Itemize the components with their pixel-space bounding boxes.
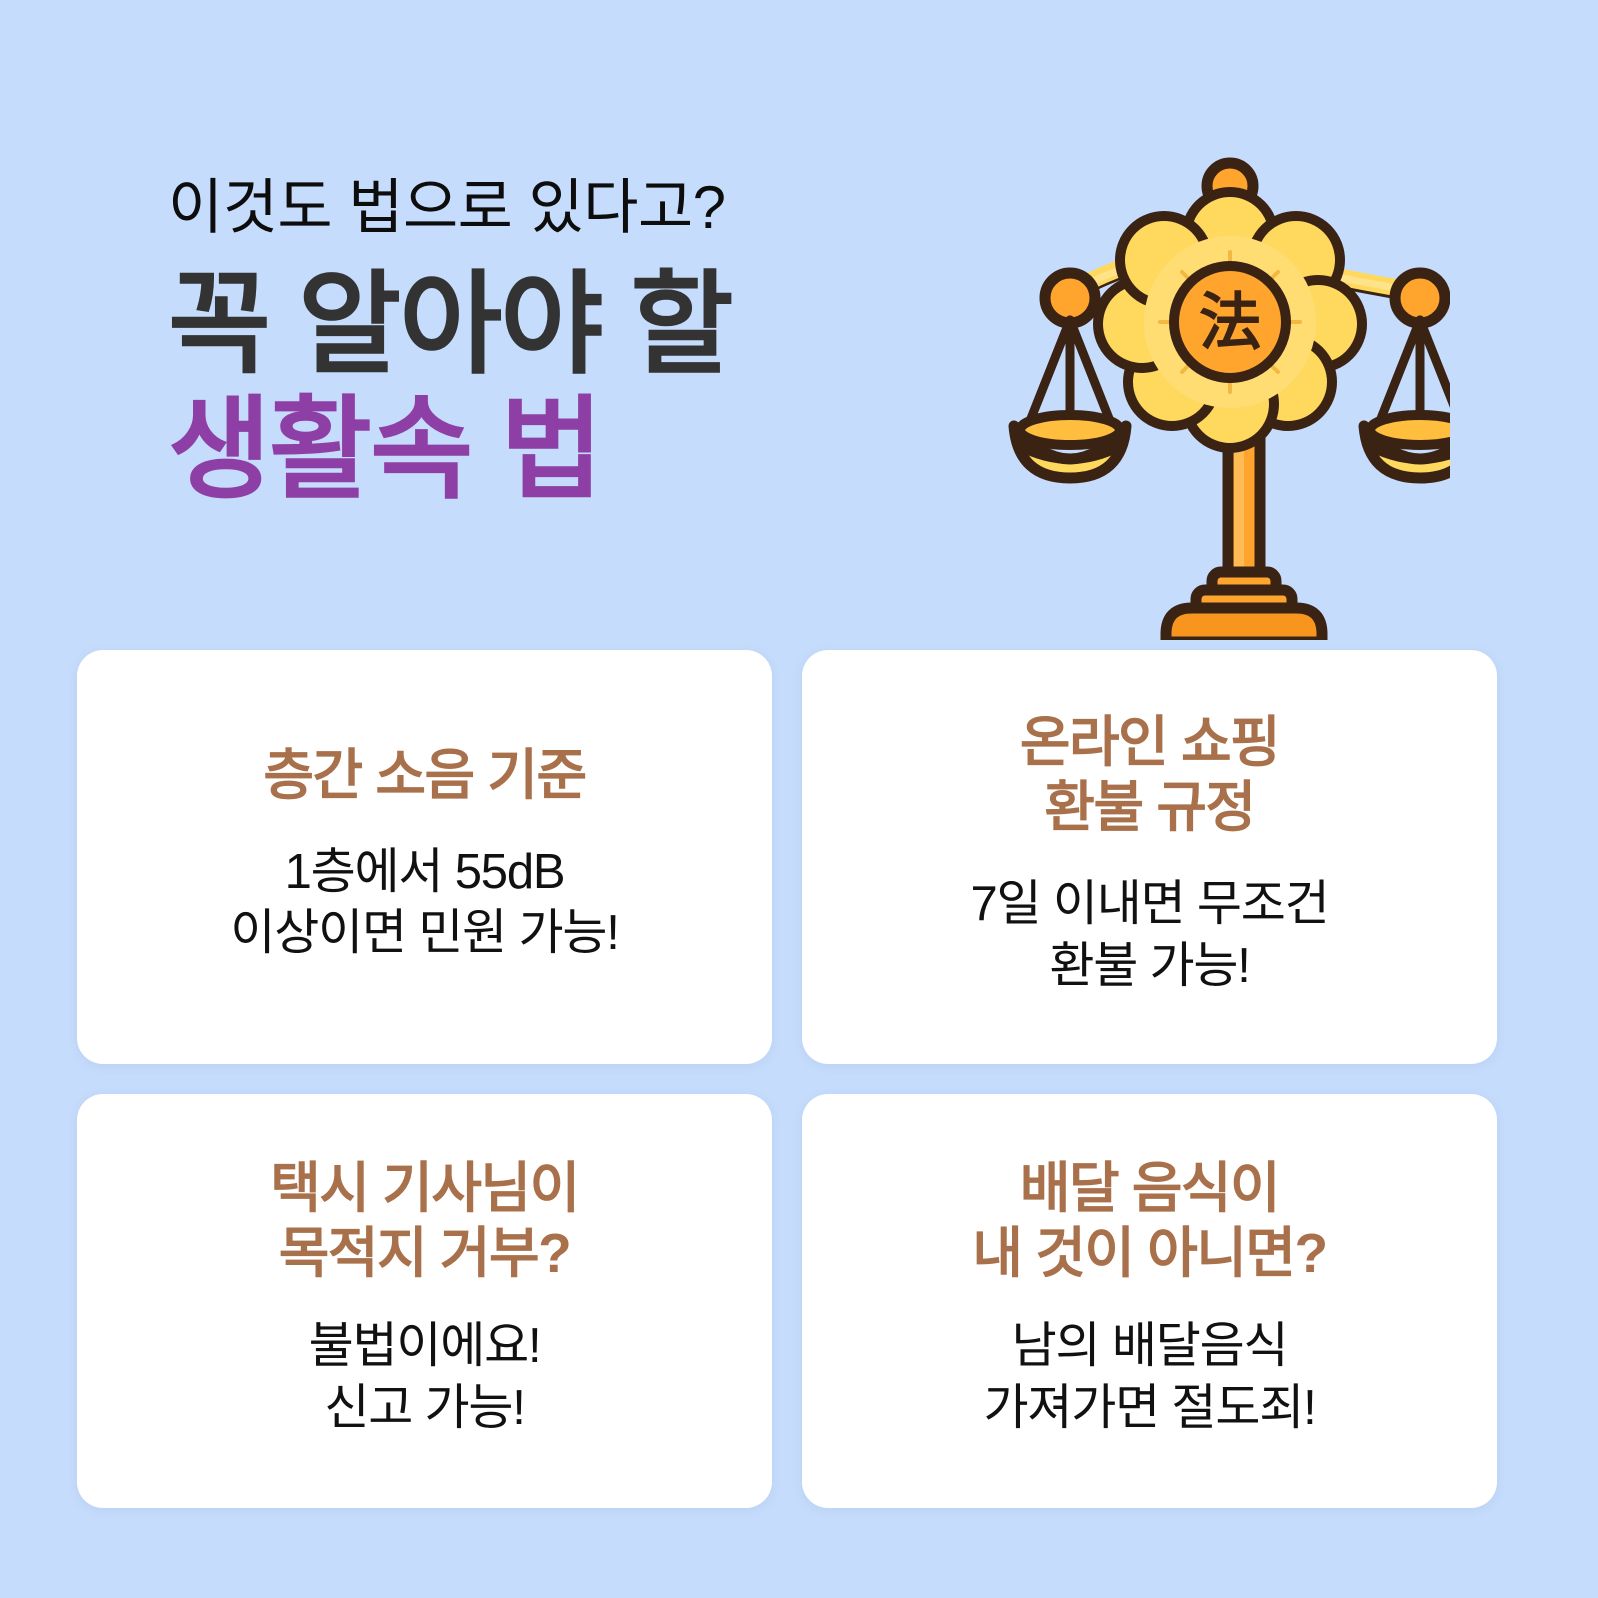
law-character: 法 bbox=[1199, 286, 1261, 359]
card-title: 온라인 쇼핑 환불 규정 bbox=[1020, 710, 1279, 840]
card-title: 택시 기사님이 목적지 거부? bbox=[270, 1156, 578, 1286]
law-card-taxi-refusal[interactable]: 택시 기사님이 목적지 거부? 불법이에요! 신고 가능! bbox=[77, 1094, 772, 1508]
flower-emblem: 法 bbox=[1098, 163, 1362, 448]
headline-block: 이것도 법으로 있다고? 꼭 알아야 할 생활속 법 bbox=[168, 176, 968, 511]
justice-scale-illustration: .ol { fill:none; stroke:#3b2314; stroke-… bbox=[1000, 140, 1450, 640]
card-title: 배달 음식이 내 것이 아니면? bbox=[972, 1156, 1326, 1286]
law-card-noise-standard[interactable]: 층간 소음 기준 1층에서 55dB 이상이면 민원 가능! bbox=[77, 650, 772, 1064]
page-title-line-1: 꼭 알아야 할 bbox=[168, 265, 968, 386]
card-body: 불법이에요! 신고 가능! bbox=[309, 1316, 541, 1439]
scale-base bbox=[1166, 572, 1322, 640]
poster-header: 이것도 법으로 있다고? 꼭 알아야 할 생활속 법 .ol { fill:no… bbox=[0, 0, 1598, 640]
infographic-poster: 이것도 법으로 있다고? 꼭 알아야 할 생활속 법 .ol { fill:no… bbox=[0, 0, 1598, 1598]
law-card-grid: 층간 소음 기준 1층에서 55dB 이상이면 민원 가능! 온라인 쇼핑 환불… bbox=[77, 650, 1497, 1508]
law-card-online-refund[interactable]: 온라인 쇼핑 환불 규정 7일 이내면 무조건 환불 가능! bbox=[802, 650, 1497, 1064]
card-title: 층간 소음 기준 bbox=[263, 743, 585, 808]
scale-pan-right bbox=[1364, 273, 1450, 478]
card-body: 7일 이내면 무조건 환불 가능! bbox=[970, 874, 1328, 997]
card-body: 1층에서 55dB 이상이면 민원 가능! bbox=[230, 842, 618, 965]
justice-scale-svg: .ol { fill:none; stroke:#3b2314; stroke-… bbox=[1000, 140, 1450, 640]
page-title-line-2: 생활속 법 bbox=[168, 390, 968, 511]
law-card-delivery-theft[interactable]: 배달 음식이 내 것이 아니면? 남의 배달음식 가져가면 절도죄! bbox=[802, 1094, 1497, 1508]
eyebrow-text: 이것도 법으로 있다고? bbox=[168, 176, 968, 239]
card-body: 남의 배달음식 가져가면 절도죄! bbox=[984, 1316, 1316, 1439]
